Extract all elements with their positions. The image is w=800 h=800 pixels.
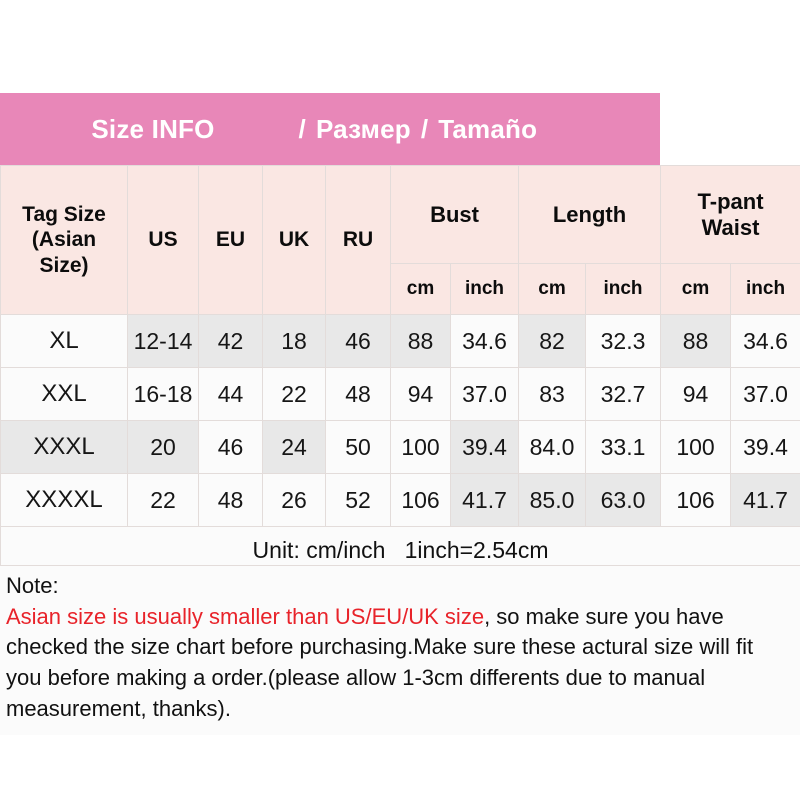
banner-row: Size INFO/Размер/Tamaño bbox=[0, 93, 800, 165]
unit-text: Unit: cm/inch 1inch=2.54cm bbox=[253, 537, 549, 564]
cell-waist-cm: 88 bbox=[661, 315, 731, 368]
cell-bust-cm: 106 bbox=[391, 474, 451, 527]
cell-waist-inch: 41.7 bbox=[731, 474, 800, 527]
table-row: XL 12-14 42 18 46 88 34.6 82 32.3 88 34.… bbox=[1, 315, 800, 368]
cell-uk: 26 bbox=[263, 474, 326, 527]
cell-length-cm: 84.0 bbox=[519, 421, 586, 474]
cell-waist-cm: 94 bbox=[661, 368, 731, 421]
cell-waist-cm: 106 bbox=[661, 474, 731, 527]
header-bust-cm: cm bbox=[391, 264, 451, 315]
cell-waist-inch: 34.6 bbox=[731, 315, 800, 368]
cell-length-cm: 82 bbox=[519, 315, 586, 368]
header-waist-inch: inch bbox=[731, 264, 800, 315]
cell-tag-size: XXXXL bbox=[1, 474, 128, 527]
table-header: Tag Size (Asian Size) US EU UK RU Bust L… bbox=[1, 166, 800, 315]
cell-length-inch: 32.7 bbox=[586, 368, 661, 421]
header-uk: UK bbox=[263, 166, 326, 315]
header-us: US bbox=[128, 166, 199, 315]
cell-length-inch: 32.3 bbox=[586, 315, 661, 368]
cell-length-cm: 85.0 bbox=[519, 474, 586, 527]
note-body: Asian size is usually smaller than US/EU… bbox=[6, 602, 794, 725]
cell-length-inch: 33.1 bbox=[586, 421, 661, 474]
cell-us: 22 bbox=[128, 474, 199, 527]
cell-waist-inch: 37.0 bbox=[731, 368, 800, 421]
size-chart-image: Size INFO/Размер/Tamaño Tag Size (Asian … bbox=[0, 0, 800, 800]
banner-title: Size INFO/Размер/Tamaño bbox=[32, 83, 537, 176]
banner-filler bbox=[660, 93, 800, 165]
cell-uk: 22 bbox=[263, 368, 326, 421]
cell-ru: 50 bbox=[326, 421, 391, 474]
cell-bust-inch: 41.7 bbox=[451, 474, 519, 527]
banner-title-english: Size INFO bbox=[91, 114, 214, 144]
banner-separator-2: / bbox=[421, 114, 428, 144]
header-row-groups: Tag Size (Asian Size) US EU UK RU Bust L… bbox=[1, 166, 800, 264]
note-highlight: Asian size is usually smaller than US/EU… bbox=[6, 604, 484, 629]
header-waist-cm: cm bbox=[661, 264, 731, 315]
note-block: Note: Asian size is usually smaller than… bbox=[0, 565, 800, 735]
header-length-inch: inch bbox=[586, 264, 661, 315]
cell-ru: 48 bbox=[326, 368, 391, 421]
header-bust-group: Bust bbox=[391, 166, 519, 264]
size-chart-table: Tag Size (Asian Size) US EU UK RU Bust L… bbox=[0, 165, 800, 574]
cell-eu: 48 bbox=[199, 474, 263, 527]
cell-length-inch: 63.0 bbox=[586, 474, 661, 527]
cell-tag-size: XXXL bbox=[1, 421, 128, 474]
cell-ru: 46 bbox=[326, 315, 391, 368]
header-bust-inch: inch bbox=[451, 264, 519, 315]
cell-us: 16-18 bbox=[128, 368, 199, 421]
cell-us: 20 bbox=[128, 421, 199, 474]
cell-us: 12-14 bbox=[128, 315, 199, 368]
banner-title-spanish: Tamaño bbox=[438, 114, 537, 144]
cell-length-cm: 83 bbox=[519, 368, 586, 421]
cell-eu: 42 bbox=[199, 315, 263, 368]
cell-waist-cm: 100 bbox=[661, 421, 731, 474]
size-info-banner: Size INFO/Размер/Tamaño bbox=[0, 93, 660, 165]
table-row: XXXXL 22 48 26 52 106 41.7 85.0 63.0 106… bbox=[1, 474, 800, 527]
cell-tag-size: XXL bbox=[1, 368, 128, 421]
table-body: XL 12-14 42 18 46 88 34.6 82 32.3 88 34.… bbox=[1, 315, 800, 574]
header-length-group: Length bbox=[519, 166, 661, 264]
table-row: XXXL 20 46 24 50 100 39.4 84.0 33.1 100 … bbox=[1, 421, 800, 474]
cell-ru: 52 bbox=[326, 474, 391, 527]
cell-waist-inch: 39.4 bbox=[731, 421, 800, 474]
cell-bust-cm: 100 bbox=[391, 421, 451, 474]
cell-bust-cm: 88 bbox=[391, 315, 451, 368]
banner-separator-1: / bbox=[299, 114, 306, 144]
header-length-cm: cm bbox=[519, 264, 586, 315]
cell-bust-inch: 34.6 bbox=[451, 315, 519, 368]
cell-uk: 18 bbox=[263, 315, 326, 368]
header-t-pant-waist-group: T-pant Waist bbox=[661, 166, 800, 264]
header-tag-size: Tag Size (Asian Size) bbox=[1, 166, 128, 315]
cell-eu: 44 bbox=[199, 368, 263, 421]
cell-bust-inch: 37.0 bbox=[451, 368, 519, 421]
header-eu: EU bbox=[199, 166, 263, 315]
cell-uk: 24 bbox=[263, 421, 326, 474]
table-row: XXL 16-18 44 22 48 94 37.0 83 32.7 94 37… bbox=[1, 368, 800, 421]
cell-bust-inch: 39.4 bbox=[451, 421, 519, 474]
cell-bust-cm: 94 bbox=[391, 368, 451, 421]
note-label: Note: bbox=[6, 571, 794, 601]
banner-title-russian: Размер bbox=[316, 114, 411, 144]
header-ru: RU bbox=[326, 166, 391, 315]
cell-tag-size: XL bbox=[1, 315, 128, 368]
cell-eu: 46 bbox=[199, 421, 263, 474]
